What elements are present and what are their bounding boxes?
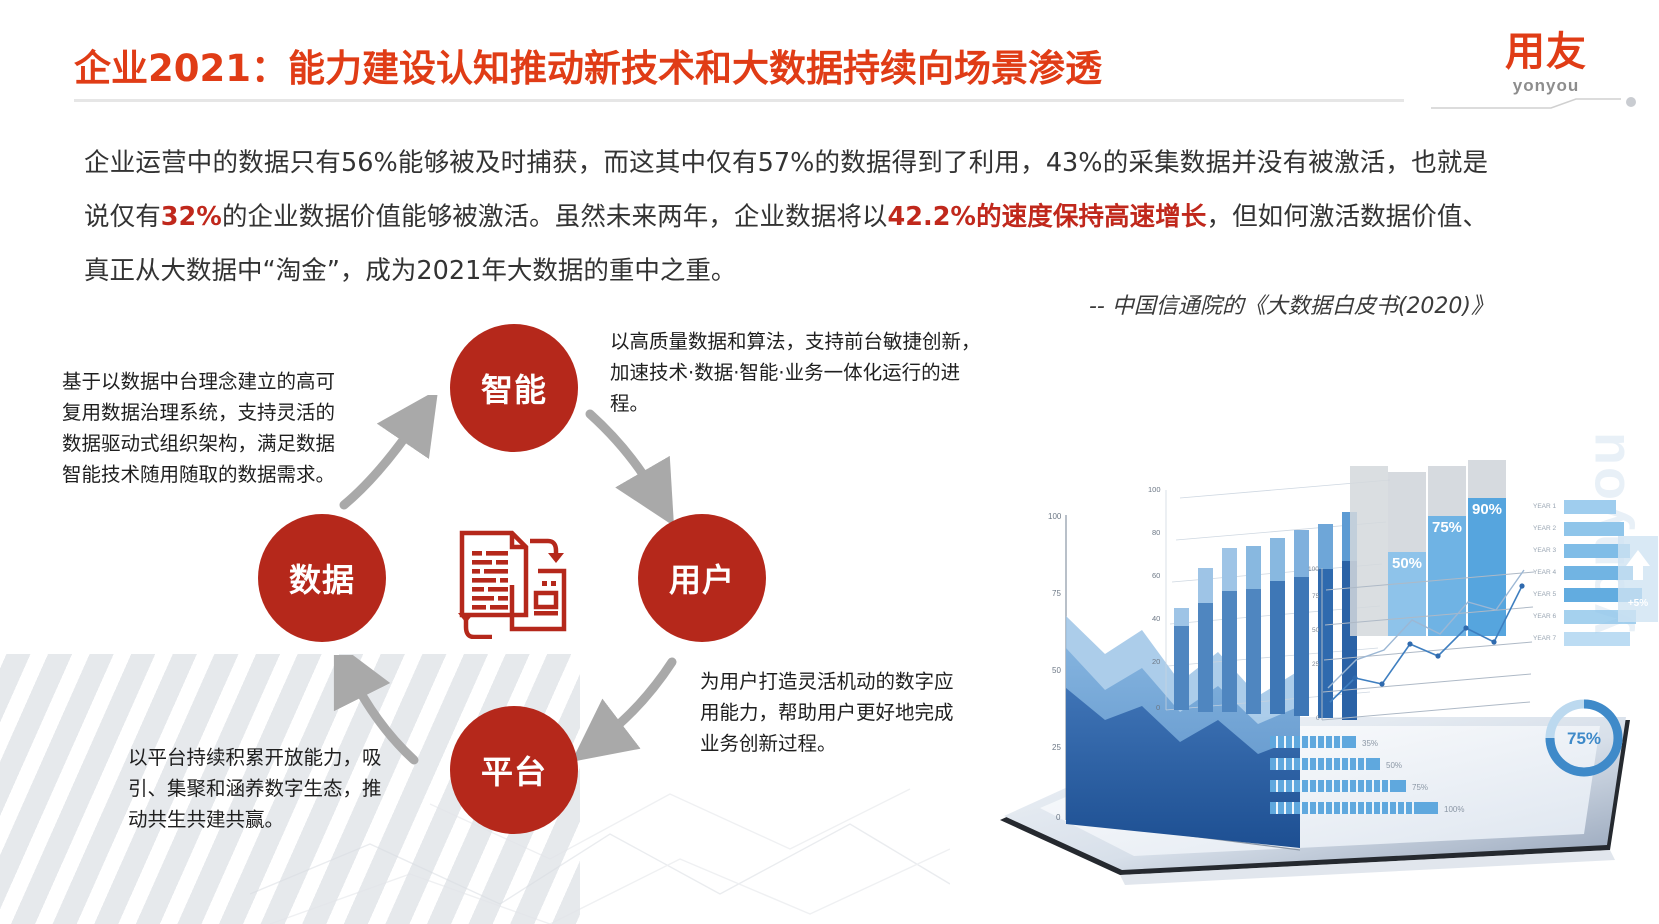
logo-chinese-text: 用友 [1481,32,1611,72]
svg-text:YEAR 6: YEAR 6 [1533,613,1557,620]
note-shuju: 基于以数据中台理念建立的高可复用数据治理系统，支持灵活的数据驱动式组织架构，满足… [62,366,352,490]
progress-columns: 50% 75% 90% [1350,460,1506,636]
svg-text:50: 50 [1052,666,1061,675]
svg-text:40: 40 [1152,614,1160,623]
node-yonghu-label: 用户 [669,555,735,601]
growth-badge: +5% [1618,536,1658,622]
svg-text:100: 100 [1048,512,1062,521]
svg-text:50: 50 [1312,627,1320,634]
svg-text:75: 75 [1052,589,1061,598]
svg-text:YEAR 2: YEAR 2 [1533,525,1557,532]
svg-text:75%: 75% [1432,519,1462,536]
svg-text:YEAR 3: YEAR 3 [1533,547,1557,554]
paragraph-text: 的企业数据价值能够被激活。虽然未来两年，企业数据将以 [222,202,888,232]
title-divider [74,99,1404,102]
svg-text:YEAR 5: YEAR 5 [1533,591,1557,598]
paragraph-highlight: 42.2%的速度保持高速增长 [888,202,1207,232]
document-transform-icon [452,523,570,639]
brand-logo: 用友 yonyou [1481,32,1611,96]
svg-text:50%: 50% [1386,761,1402,770]
svg-text:+5%: +5% [1628,598,1648,609]
svg-text:0: 0 [1316,715,1320,722]
note-yonghu: 为用户打造灵活机动的数字应用能力，帮助用户更好地完成业务创新过程。 [700,666,960,759]
slide-canvas: yonyou 企业2021：能力建设认知推动新技术和大数据持续向场景渗透 用友 … [0,0,1659,924]
logo-swoosh-decoration [1431,96,1641,112]
note-pingtai: 以平台持续积累开放能力，吸引、集聚和涵养数字生态，推动共生共建共赢。 [128,742,388,835]
svg-text:100: 100 [1308,566,1319,573]
svg-text:75: 75 [1312,593,1320,600]
svg-text:YEAR 7: YEAR 7 [1533,635,1557,642]
svg-text:80: 80 [1152,528,1160,537]
arrow-yonghu-to-pingtai [560,650,685,765]
svg-text:60: 60 [1152,571,1160,580]
svg-text:100%: 100% [1444,805,1464,814]
node-zhineng-label: 智能 [481,365,547,411]
note-zhineng: 以高质量数据和算法，支持前台敏捷创新，加速技术·数据·智能·业务一体化运行的进程… [610,326,990,419]
source-citation: -- 中国信通院的《大数据白皮书(2020)》 [1089,288,1493,320]
node-yonghu[interactable]: 用户 [638,514,766,642]
svg-text:100: 100 [1148,485,1161,494]
page-title: 企业2021：能力建设认知推动新技术和大数据持续向场景渗透 [74,38,1102,92]
svg-text:50%: 50% [1392,555,1422,572]
svg-text:90%: 90% [1472,501,1502,518]
svg-text:20: 20 [1152,657,1160,666]
svg-text:0: 0 [1056,813,1061,822]
svg-text:YEAR 4: YEAR 4 [1533,569,1557,576]
svg-text:0: 0 [1156,703,1160,712]
logo-latin-text: yonyou [1481,76,1611,96]
tablet-data-analytics-illustration: 10075 50250 10080 6040 200 [970,420,1659,890]
node-shuju[interactable]: 数据 [258,514,386,642]
intro-paragraph: 企业运营中的数据只有56%能够被及时捕获，而这其中仅有57%的数据得到了利用，4… [84,136,1488,298]
node-pingtai-label: 平台 [481,747,547,793]
svg-text:25: 25 [1312,661,1320,668]
paragraph-highlight: 32% [161,202,222,232]
node-pingtai[interactable]: 平台 [450,706,578,834]
svg-text:YEAR 1: YEAR 1 [1533,503,1557,510]
svg-text:35%: 35% [1362,739,1378,748]
svg-text:25: 25 [1052,743,1061,752]
svg-text:75%: 75% [1567,729,1601,748]
node-shuju-label: 数据 [289,555,355,601]
svg-text:75%: 75% [1412,783,1428,792]
node-zhineng[interactable]: 智能 [450,324,578,452]
